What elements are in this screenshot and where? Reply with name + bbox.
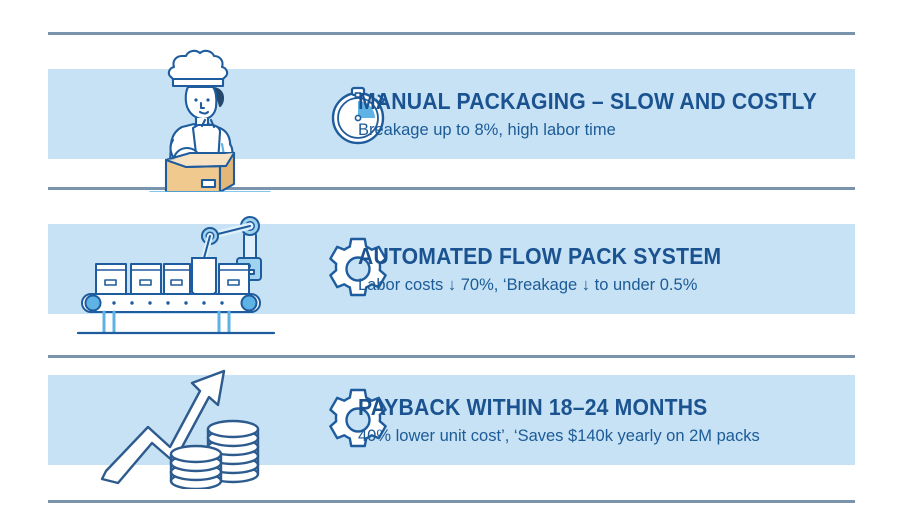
divider-bottom [48,500,855,503]
infographic-canvas: MANUAL PACKAGING – SLOW AND COSTLY Break… [0,0,900,527]
row-subtitle: 40% lower unit cost’, ‘Saves $140k yearl… [358,427,760,446]
row-title: PAYBACK WITHIN 18–24 MONTHS [358,394,728,421]
text-block-automated-flow-pack: AUTOMATED FLOW PACK SYSTEM Labor costs ↓… [358,243,753,295]
divider-top [48,32,855,35]
divider-between-row1-row2 [48,187,855,190]
row-title: MANUAL PACKAGING – SLOW AND COSTLY [358,88,817,115]
row-subtitle: Labor costs ↓ 70%, ‘Breakage ↓ to under … [358,276,753,295]
text-block-manual-packaging: MANUAL PACKAGING – SLOW AND COSTLY Break… [358,88,857,140]
row-automated-flow-pack: AUTOMATED FLOW PACK SYSTEM Labor costs ↓… [48,224,855,314]
row-manual-packaging: MANUAL PACKAGING – SLOW AND COSTLY Break… [48,69,855,159]
row-title: AUTOMATED FLOW PACK SYSTEM [358,243,721,270]
row-payback-period: PAYBACK WITHIN 18–24 MONTHS 40% lower un… [48,375,855,465]
divider-between-row2-row3 [48,355,855,358]
text-block-payback-period: PAYBACK WITHIN 18–24 MONTHS 40% lower un… [358,394,760,446]
row-subtitle: Breakage up to 8%, high labor time [358,121,857,140]
